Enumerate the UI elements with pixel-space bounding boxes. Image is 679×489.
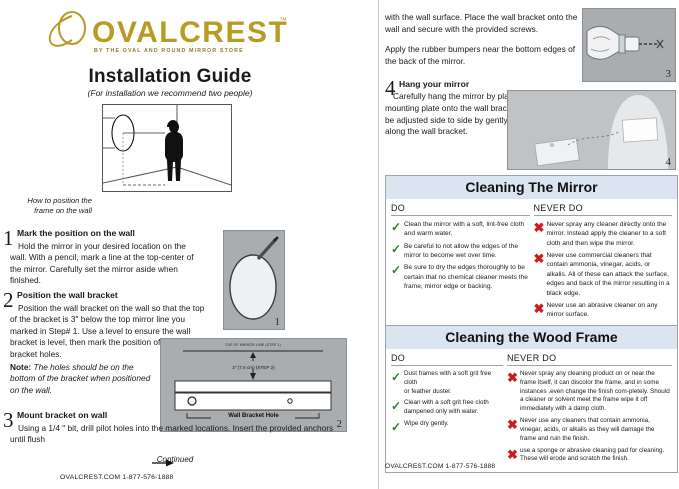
photo-1-oval-mirror: 1 bbox=[223, 230, 285, 330]
section-1-never-label: NEVER DO bbox=[534, 203, 673, 216]
never-item-text: Never spray any cleaner directly onto th… bbox=[547, 220, 673, 248]
step-4-heading: Hang your mirror bbox=[399, 78, 559, 90]
photo-1-number: 1 bbox=[275, 316, 281, 328]
photo-3-drill: 3 bbox=[582, 8, 676, 82]
never-item-text: Never use an abrasive cleaner on any mir… bbox=[547, 301, 673, 320]
photo-3-number: 3 bbox=[666, 68, 672, 80]
check-icon: ✓ bbox=[391, 370, 404, 396]
step-1-body: Hold the mirror in your desired location… bbox=[10, 241, 198, 287]
step-3-heading: Mount bracket on wall bbox=[17, 410, 107, 420]
left-column: OVALCREST ™ BY THE OVAL AND ROUND MIRROR… bbox=[0, 0, 372, 489]
do-item: ✓ Wipe dry gently. bbox=[391, 420, 503, 433]
page-subtitle: (For installation we recommend two peopl… bbox=[0, 88, 340, 98]
cross-icon: ✖ bbox=[534, 301, 547, 320]
never-item: ✖ Never use an abrasive cleaner on any m… bbox=[534, 301, 673, 320]
step-2-note: Note: The holes should be on the bottom … bbox=[10, 362, 160, 396]
photo-4-number: 4 bbox=[666, 156, 672, 168]
do-item-text: Be sure to dry the edges thoroughly to b… bbox=[404, 263, 530, 291]
do-item: ✓ Be sure to dry the edges thoroughly to… bbox=[391, 263, 530, 291]
never-item-text: Never spray any cleaning product on or n… bbox=[520, 370, 672, 414]
never-item: ✖ use a sponge or abrasive cleaning pad … bbox=[507, 447, 672, 465]
bracket-measure-label: 3" (7.6 cm) (STEP 2) bbox=[161, 365, 346, 370]
do-item: ✓ Clean with a soft grit free cloth damp… bbox=[391, 399, 503, 417]
section-1-heading: Cleaning The Mirror bbox=[386, 176, 677, 199]
brand-tagline: BY THE OVAL AND ROUND MIRROR STORE bbox=[94, 48, 244, 54]
photo-4-mounting-plate: 4 bbox=[507, 90, 676, 170]
do-item: ✓ Clean the mirror with a soft, lint-fre… bbox=[391, 220, 530, 239]
column-divider bbox=[378, 0, 379, 489]
never-item-text: Never use commercial cleaners that conta… bbox=[547, 251, 673, 298]
section-1-never-column: NEVER DO ✖ Never spray any cleaner direc… bbox=[534, 203, 673, 323]
never-item-text: use a sponge or abrasive cleaning pad fo… bbox=[520, 447, 672, 465]
never-item: ✖ Never use commercial cleaners that con… bbox=[534, 251, 673, 298]
step-2-heading: Position the wall bracket bbox=[17, 290, 118, 300]
do-item-text: Clean the mirror with a soft, lint-free … bbox=[404, 220, 530, 239]
room-position-diagram bbox=[102, 104, 232, 192]
cross-icon: ✖ bbox=[507, 370, 520, 414]
note-text: The holes should be on the bottom of the… bbox=[10, 362, 150, 395]
arrow-right-icon bbox=[152, 459, 174, 467]
check-icon: ✓ bbox=[391, 220, 404, 239]
do-item: ✓ Be careful to not allow the edges of t… bbox=[391, 242, 530, 261]
step-3-body: Using a 1/4 " bit, drill pilot holes int… bbox=[10, 423, 340, 446]
section-1-do-label: DO bbox=[391, 203, 530, 216]
section-2-never-column: NEVER DO ✖ Never spray any cleaning prod… bbox=[507, 353, 672, 467]
oval-swirl-icon bbox=[42, 10, 96, 56]
step-2: Position the wall bracket bbox=[17, 290, 197, 302]
never-item: ✖ Never use any cleaners that contain am… bbox=[507, 417, 672, 443]
step-1-heading: Mark the position on the wall bbox=[17, 228, 135, 238]
right-intro-1: with the wall surface. Place the wall br… bbox=[385, 12, 585, 36]
never-item: ✖ Never spray any cleaning product on or… bbox=[507, 370, 672, 414]
section-cleaning-the-mirror: Cleaning The Mirror DO ✓ Clean the mirro… bbox=[385, 175, 678, 329]
right-intro-2: Apply the rubber bumpers near the bottom… bbox=[385, 44, 585, 68]
brand-logo: OVALCREST ™ BY THE OVAL AND ROUND MIRROR… bbox=[42, 12, 332, 60]
brand-name: OVALCREST bbox=[92, 16, 288, 50]
step-3: Mount bracket on wall bbox=[17, 410, 197, 422]
check-icon: ✓ bbox=[391, 399, 404, 417]
section-cleaning-the-wood-frame: Cleaning the Wood Frame DO ✓ Dust frames… bbox=[385, 325, 678, 473]
do-item-text: Clean with a soft grit free cloth dampen… bbox=[404, 399, 503, 417]
do-item-text: Wipe dry gently. bbox=[404, 420, 449, 433]
do-item-text: Dust frames with a soft grit free cloth … bbox=[404, 370, 503, 396]
footer-left: OVALCREST.COM 1-877-576-1888 bbox=[60, 474, 174, 481]
cross-icon: ✖ bbox=[534, 251, 547, 298]
cross-icon: ✖ bbox=[507, 447, 520, 465]
section-2-do-label: DO bbox=[391, 353, 503, 366]
step-1: Mark the position on the wall bbox=[17, 228, 197, 240]
section-2-never-label: NEVER DO bbox=[507, 353, 672, 366]
cross-icon: ✖ bbox=[534, 220, 547, 248]
continued-label: Continued bbox=[100, 455, 250, 464]
do-item-text: Be careful to not allow the edges of the… bbox=[404, 242, 530, 261]
section-2-heading: Cleaning the Wood Frame bbox=[386, 326, 677, 349]
do-item: ✓ Dust frames with a soft grit free clot… bbox=[391, 370, 503, 396]
check-icon: ✓ bbox=[391, 420, 404, 433]
check-icon: ✓ bbox=[391, 263, 404, 291]
trademark-symbol: ™ bbox=[279, 16, 287, 25]
never-item: ✖ Never spray any cleaner directly onto … bbox=[534, 220, 673, 248]
note-label: Note: bbox=[10, 362, 31, 372]
section-1-do-column: DO ✓ Clean the mirror with a soft, lint-… bbox=[391, 203, 534, 323]
section-2-do-column: DO ✓ Dust frames with a soft grit free c… bbox=[391, 353, 507, 467]
cross-icon: ✖ bbox=[507, 417, 520, 443]
page-title: Installation Guide bbox=[0, 66, 340, 88]
footer-right: OVALCREST.COM 1-877-576-1888 bbox=[385, 463, 495, 470]
diagram-caption: How to position the frame on the wall bbox=[4, 196, 92, 217]
check-icon: ✓ bbox=[391, 242, 404, 261]
never-item-text: Never use any cleaners that contain ammo… bbox=[520, 417, 672, 443]
right-column: with the wall surface. Place the wall br… bbox=[385, 0, 679, 489]
installation-guide-page: OVALCREST ™ BY THE OVAL AND ROUND MIRROR… bbox=[0, 0, 679, 489]
